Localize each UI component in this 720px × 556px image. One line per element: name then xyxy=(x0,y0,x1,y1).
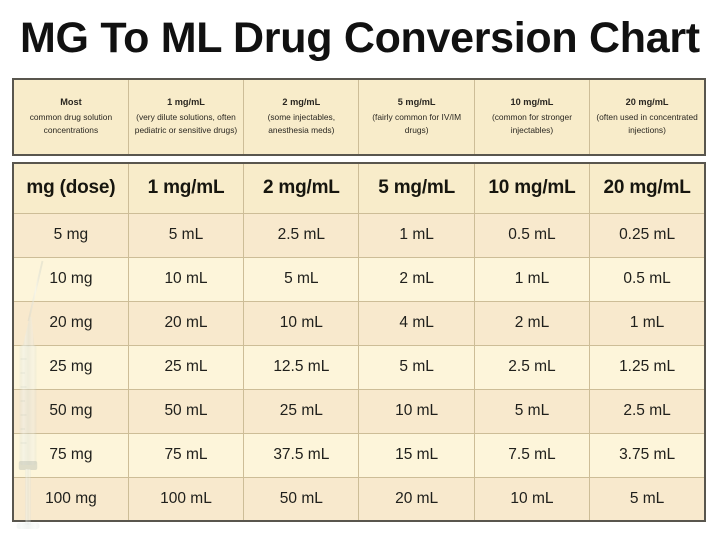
description-note: (fairly common for IV/IM drugs) xyxy=(364,111,468,138)
conversion-table: mg (dose)1 mg/mL2 mg/mL5 mg/mL10 mg/mL20… xyxy=(12,162,706,522)
description-title: 20 mg/mL xyxy=(595,96,699,110)
volume-cell: 0.25 mL xyxy=(590,213,705,257)
concentration-description-header: Most common drug solution concentrations… xyxy=(12,78,706,156)
volume-cell: 7.5 mL xyxy=(474,433,589,477)
volume-cell: 2 mL xyxy=(359,257,474,301)
page-title: MG To ML Drug Conversion Chart xyxy=(20,8,710,68)
description-note: (very dilute solutions, often pediatric … xyxy=(134,111,238,138)
volume-cell: 0.5 mL xyxy=(590,257,705,301)
column-header: 5 mg/mL xyxy=(359,163,474,213)
volume-cell: 1 mL xyxy=(590,301,705,345)
column-header: 10 mg/mL xyxy=(474,163,589,213)
volume-cell: 1.25 mL xyxy=(590,345,705,389)
table-row: 25 mg25 mL12.5 mL5 mL2.5 mL1.25 mL xyxy=(13,345,705,389)
column-header: mg (dose) xyxy=(13,163,128,213)
volume-cell: 5 mL xyxy=(128,213,243,257)
volume-cell: 2 mL xyxy=(474,301,589,345)
description-cell-10mgml: 10 mg/mL (common for stronger injectable… xyxy=(474,79,589,155)
column-header: 2 mg/mL xyxy=(244,163,359,213)
table-row: 75 mg75 mL37.5 mL15 mL7.5 mL3.75 mL xyxy=(13,433,705,477)
volume-cell: 50 mL xyxy=(128,389,243,433)
dose-cell: 10 mg xyxy=(13,257,128,301)
description-note: (some injectables, anesthesia meds) xyxy=(249,111,353,138)
dose-cell: 75 mg xyxy=(13,433,128,477)
table-row: 10 mg10 mL5 mL2 mL1 mL0.5 mL xyxy=(13,257,705,301)
dose-cell: 5 mg xyxy=(13,213,128,257)
description-title: 10 mg/mL xyxy=(480,96,584,110)
volume-cell: 50 mL xyxy=(244,477,359,521)
volume-cell: 1 mL xyxy=(474,257,589,301)
description-title: 1 mg/mL xyxy=(134,96,238,110)
volume-cell: 20 mL xyxy=(359,477,474,521)
volume-cell: 12.5 mL xyxy=(244,345,359,389)
volume-cell: 4 mL xyxy=(359,301,474,345)
volume-cell: 2.5 mL xyxy=(244,213,359,257)
volume-cell: 5 mL xyxy=(590,477,705,521)
dose-cell: 50 mg xyxy=(13,389,128,433)
volume-cell: 25 mL xyxy=(128,345,243,389)
dose-cell: 100 mg xyxy=(13,477,128,521)
volume-cell: 10 mL xyxy=(244,301,359,345)
volume-cell: 1 mL xyxy=(359,213,474,257)
description-cell-2mgml: 2 mg/mL (some injectables, anesthesia me… xyxy=(244,79,359,155)
description-note: (often used in concentrated injections) xyxy=(595,111,699,138)
table-row: 20 mg20 mL10 mL4 mL2 mL1 mL xyxy=(13,301,705,345)
volume-cell: 5 mL xyxy=(474,389,589,433)
volume-cell: 25 mL xyxy=(244,389,359,433)
description-title: 2 mg/mL xyxy=(249,96,353,110)
volume-cell: 15 mL xyxy=(359,433,474,477)
dose-cell: 20 mg xyxy=(13,301,128,345)
volume-cell: 100 mL xyxy=(128,477,243,521)
volume-cell: 5 mL xyxy=(359,345,474,389)
volume-cell: 20 mL xyxy=(128,301,243,345)
volume-cell: 10 mL xyxy=(359,389,474,433)
table-row: 5 mg5 mL2.5 mL1 mL0.5 mL0.25 mL xyxy=(13,213,705,257)
table-header-row: mg (dose)1 mg/mL2 mg/mL5 mg/mL10 mg/mL20… xyxy=(13,163,705,213)
volume-cell: 2.5 mL xyxy=(590,389,705,433)
column-header: 1 mg/mL xyxy=(128,163,243,213)
description-title: Most xyxy=(19,96,123,110)
description-cell-1mgml: 1 mg/mL (very dilute solutions, often pe… xyxy=(128,79,243,155)
description-row: Most common drug solution concentrations… xyxy=(13,79,705,155)
volume-cell: 10 mL xyxy=(474,477,589,521)
table-row: 50 mg50 mL25 mL10 mL5 mL2.5 mL xyxy=(13,389,705,433)
table-row: 100 mg100 mL50 mL20 mL10 mL5 mL xyxy=(13,477,705,521)
volume-cell: 5 mL xyxy=(244,257,359,301)
description-cell-dose-label: Most common drug solution concentrations xyxy=(13,79,128,155)
description-note: common drug solution concentrations xyxy=(19,111,123,138)
volume-cell: 2.5 mL xyxy=(474,345,589,389)
volume-cell: 37.5 mL xyxy=(244,433,359,477)
description-title: 5 mg/mL xyxy=(364,96,468,110)
volume-cell: 75 mL xyxy=(128,433,243,477)
volume-cell: 10 mL xyxy=(128,257,243,301)
description-note: (common for stronger injectables) xyxy=(480,111,584,138)
dose-cell: 25 mg xyxy=(13,345,128,389)
description-cell-20mgml: 20 mg/mL (often used in concentrated inj… xyxy=(590,79,705,155)
column-header: 20 mg/mL xyxy=(590,163,705,213)
volume-cell: 3.75 mL xyxy=(590,433,705,477)
volume-cell: 0.5 mL xyxy=(474,213,589,257)
description-cell-5mgml: 5 mg/mL (fairly common for IV/IM drugs) xyxy=(359,79,474,155)
